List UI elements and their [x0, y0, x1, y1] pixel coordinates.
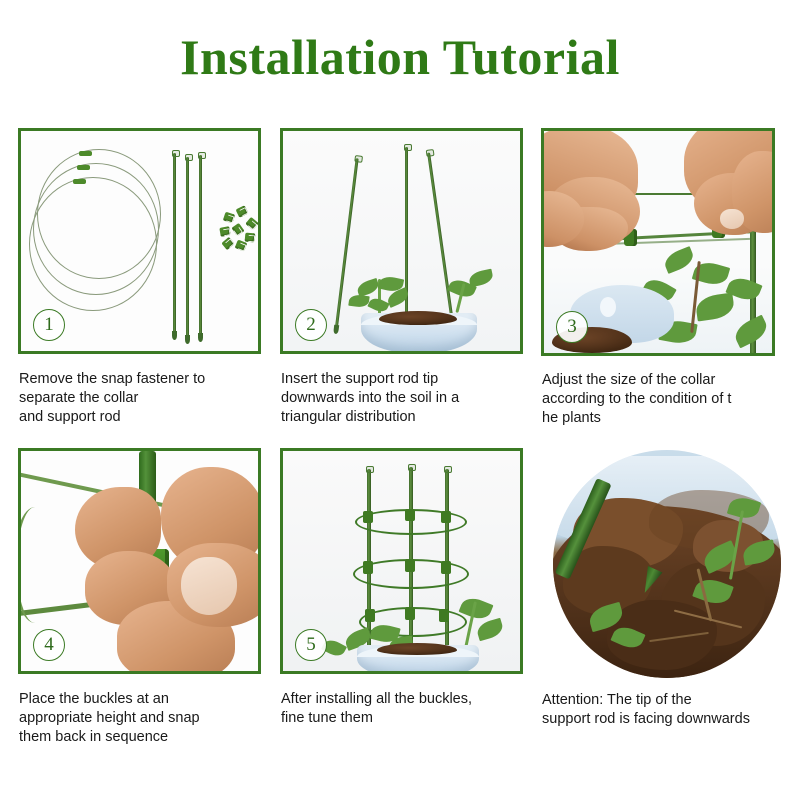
- step-caption-2: Insert the support rod tip downwards int…: [281, 370, 531, 427]
- step-image-3: 3: [541, 128, 775, 356]
- step-caption-4: Place the buckles at an appropriate heig…: [19, 690, 269, 747]
- step-caption-6: Attention: The tip of the support rod is…: [542, 691, 800, 729]
- step-badge-3: 3: [556, 311, 588, 343]
- step-card-6: Attention: The tip of the support rod is…: [541, 448, 793, 676]
- step-caption-1: Remove the snap fastener to separate the…: [19, 370, 269, 427]
- step-caption-5: After installing all the buckles, fine t…: [281, 690, 531, 728]
- step-badge-4: 4: [33, 629, 65, 661]
- step-image-6: [541, 448, 793, 676]
- step-image-1: 1: [18, 128, 261, 354]
- step-card-3: 3 Adjust the size of the collar accordin…: [541, 128, 793, 356]
- step-image-2: 2: [280, 128, 523, 354]
- step-card-4: 4 Place the buckles at an appropriate he…: [18, 448, 261, 674]
- step-badge-5: 5: [295, 629, 327, 661]
- step-badge-2: 2: [295, 309, 327, 341]
- step-card-2: 2 Insert the support rod tip downwards i…: [280, 128, 523, 354]
- step-card-5: 5 After installing all the buckles, fine…: [280, 448, 523, 674]
- step-caption-3: Adjust the size of the collar according …: [542, 371, 798, 428]
- page-title: Installation Tutorial: [0, 32, 800, 82]
- step-card-1: 1 Remove the snap fastener to separate t…: [18, 128, 261, 354]
- step-image-4: 4: [18, 448, 261, 674]
- step-badge-1: 1: [33, 309, 65, 341]
- step-image-5: 5: [280, 448, 523, 674]
